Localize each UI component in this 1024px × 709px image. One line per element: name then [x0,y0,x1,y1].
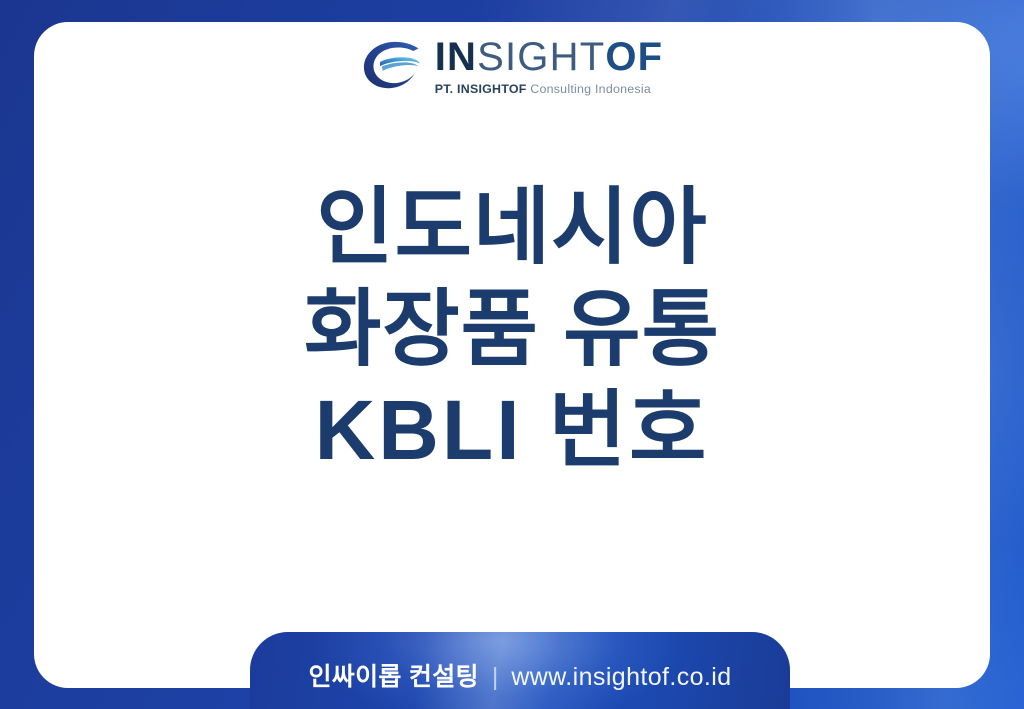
tagline-company: PT. INSIGHTOF [435,82,527,96]
brand-logo-lockup: INSIGHTOF PT. INSIGHTOF Consulting Indon… [34,36,990,95]
wordmark-in: IN [435,35,477,79]
white-content-card: INSIGHTOF PT. INSIGHTOF Consulting Indon… [34,22,990,688]
page-title-line-1: 인도네시아 [34,177,990,279]
brand-wordmark: INSIGHTOF [435,36,664,78]
poster-canvas: INSIGHTOF PT. INSIGHTOF Consulting Indon… [0,0,1024,709]
tagline-descriptor-text: Consulting Indonesia [530,82,651,96]
footer-contact-bar: 인싸이롭 컨설팅 | www.insightof.co.id [250,632,790,709]
page-title-line-3: KBLI 번호 [34,380,990,482]
footer-website-url[interactable]: www.insightof.co.id [511,663,731,692]
logo-text-block: INSIGHTOF PT. INSIGHTOF Consulting Indon… [435,36,664,95]
wordmark-of: OF [605,35,663,79]
insightof-swoosh-e-logo-icon [361,39,423,93]
wordmark-sight: SIGHT [477,35,605,79]
page-title: 인도네시아 화장품 유통 KBLI 번호 [34,177,990,482]
footer-separator: | [492,663,499,692]
page-title-line-2: 화장품 유통 [34,279,990,381]
footer-brand-name: 인싸이롭 컨설팅 [308,657,478,693]
footer-inner: 인싸이롭 컨설팅 | www.insightof.co.id [308,649,731,693]
brand-tagline: PT. INSIGHTOF Consulting Indonesia [435,83,651,95]
